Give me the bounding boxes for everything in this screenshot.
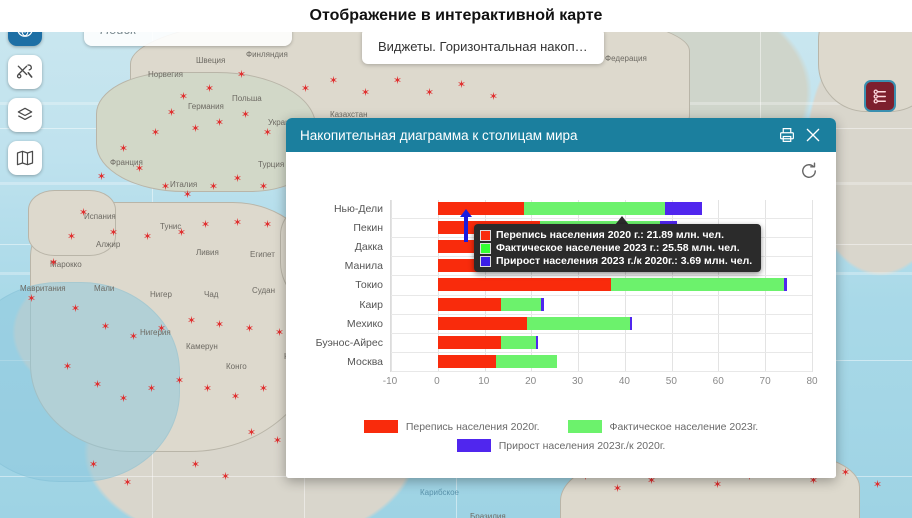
- category-label: Нью-Дели: [334, 203, 383, 215]
- map-marker[interactable]: [66, 232, 77, 243]
- bar-segment[interactable]: [541, 298, 544, 311]
- map-label: Мали: [94, 284, 114, 293]
- legend-row: Перепись населения 2020г.Фактическое нас…: [286, 420, 836, 433]
- basemap-icon: [15, 148, 35, 168]
- map-marker[interactable]: [712, 480, 723, 491]
- map-marker[interactable]: [230, 392, 241, 403]
- map-marker[interactable]: [134, 164, 145, 175]
- map-marker[interactable]: [174, 376, 185, 387]
- map-marker[interactable]: [142, 232, 153, 243]
- map-marker[interactable]: [272, 436, 283, 447]
- category-label: Пекин: [353, 222, 383, 234]
- panel-body: Нью-ДелиПекинДаккаМанилаТокиоКаирМехикоБ…: [286, 152, 836, 478]
- map-marker[interactable]: [202, 384, 213, 395]
- map-marker[interactable]: [328, 76, 339, 87]
- x-tick-label: 30: [572, 376, 583, 387]
- x-tick-label: 0: [434, 376, 440, 387]
- map-marker[interactable]: [840, 468, 851, 479]
- legend-label: Прирост населения 2023г./к 2020г.: [499, 440, 666, 452]
- tooltip-text: Прирост населения 2023 г./к 2020г.: 3.69…: [496, 255, 752, 267]
- bar-segment[interactable]: [784, 278, 787, 291]
- widget-tab-label: Виджеты. Горизонтальная накоп…: [378, 39, 588, 54]
- bar-segment[interactable]: [501, 298, 541, 311]
- tooltip-swatch: [480, 256, 491, 267]
- map-label: Камерун: [186, 342, 218, 351]
- map-marker[interactable]: [232, 218, 243, 229]
- map-marker[interactable]: [118, 144, 129, 155]
- legend-label: Перепись населения 2020г.: [406, 421, 540, 433]
- map-marker[interactable]: [246, 428, 257, 439]
- bar-segment[interactable]: [438, 317, 527, 330]
- tooltip-swatch: [480, 230, 491, 241]
- bar-segment[interactable]: [536, 336, 538, 349]
- print-icon: [778, 126, 796, 144]
- map-marker[interactable]: [176, 228, 187, 239]
- bar-segment[interactable]: [438, 202, 525, 215]
- bar-segment[interactable]: [438, 278, 611, 291]
- legend-swatch: [568, 420, 602, 433]
- panel-header: Накопительная диаграмма к столицам мира: [286, 118, 836, 152]
- map-label: Карибское: [420, 488, 459, 497]
- map-marker[interactable]: [240, 110, 251, 121]
- map-marker[interactable]: [258, 384, 269, 395]
- chart-legend: Перепись населения 2020г.Фактическое нас…: [286, 420, 836, 458]
- map-toolbar[interactable]: [8, 12, 42, 184]
- map-marker[interactable]: [166, 108, 177, 119]
- map-marker[interactable]: [160, 182, 171, 193]
- x-tick-label: 20: [525, 376, 536, 387]
- chart-tooltip: Перепись населения 2020 г.: 21.89 млн. ч…: [474, 224, 761, 272]
- map-marker[interactable]: [872, 480, 883, 491]
- map-label: Алжир: [96, 240, 120, 249]
- widget-breadcrumb-tab[interactable]: Виджеты. Горизонтальная накоп…: [362, 28, 604, 64]
- grid-line: [812, 200, 813, 372]
- refresh-button[interactable]: [798, 160, 820, 182]
- map-marker[interactable]: [262, 128, 273, 139]
- x-tick-label: 70: [760, 376, 771, 387]
- map-marker[interactable]: [150, 128, 161, 139]
- map-marker[interactable]: [156, 324, 167, 335]
- map-marker[interactable]: [214, 118, 225, 129]
- map-label: Ливия: [196, 248, 219, 257]
- x-tick-label: 10: [478, 376, 489, 387]
- bar-segment[interactable]: [527, 317, 630, 330]
- close-icon: [804, 126, 822, 144]
- refresh-icon: [799, 161, 819, 181]
- map-marker[interactable]: [300, 84, 311, 95]
- tooltip-row: Перепись населения 2020 г.: 21.89 млн. ч…: [480, 229, 755, 241]
- tools-button[interactable]: [8, 55, 42, 89]
- category-label: Мехико: [347, 318, 383, 330]
- chart-row[interactable]: Буэнос-Айрес: [391, 334, 812, 353]
- tools-icon: [15, 62, 35, 82]
- map-marker[interactable]: [200, 220, 211, 231]
- bar-segment[interactable]: [611, 278, 784, 291]
- x-tick-label: -10: [383, 376, 397, 387]
- x-tick-label: 80: [806, 376, 817, 387]
- category-label: Дакка: [355, 241, 383, 253]
- category-label: Каир: [359, 299, 383, 311]
- map-marker[interactable]: [88, 460, 99, 471]
- map-marker[interactable]: [190, 124, 201, 135]
- map-label: Судан: [252, 286, 275, 295]
- map-marker[interactable]: [360, 88, 371, 99]
- chart-panel[interactable]: Накопительная диаграмма к столицам мира …: [286, 118, 836, 478]
- map-marker[interactable]: [70, 304, 81, 315]
- bar-segment[interactable]: [630, 317, 633, 330]
- x-tick-label: 60: [713, 376, 724, 387]
- bar-segment[interactable]: [496, 355, 557, 368]
- chart-row[interactable]: Нью-Дели: [391, 200, 812, 219]
- bar-segment[interactable]: [665, 202, 702, 215]
- category-label: Буэнос-Айрес: [316, 337, 383, 349]
- map-label: Финляндия: [246, 50, 288, 59]
- layers-button[interactable]: [8, 98, 42, 132]
- map-marker[interactable]: [62, 362, 73, 373]
- chart-row[interactable]: Каир: [391, 296, 812, 315]
- x-tick-label: 50: [666, 376, 677, 387]
- legend-item[interactable]: Перепись населения 2020г.: [364, 420, 540, 433]
- map-marker[interactable]: [128, 332, 139, 343]
- map-marker[interactable]: [108, 228, 119, 239]
- map-marker[interactable]: [178, 92, 189, 103]
- map-marker[interactable]: [236, 70, 247, 81]
- map-marker[interactable]: [262, 220, 273, 231]
- map-marker[interactable]: [186, 316, 197, 327]
- map-label: Чад: [204, 290, 218, 299]
- category-label: Токио: [355, 279, 383, 291]
- map-marker[interactable]: [208, 182, 219, 193]
- map-label: Польша: [232, 94, 262, 103]
- map-marker[interactable]: [392, 76, 403, 87]
- legend-swatch: [364, 420, 398, 433]
- legend-swatch: [457, 439, 491, 452]
- map-marker[interactable]: [488, 92, 499, 103]
- chart-row[interactable]: Токио: [391, 276, 812, 295]
- map-marker[interactable]: [92, 380, 103, 391]
- map-marker[interactable]: [612, 484, 623, 495]
- print-button[interactable]: [774, 122, 800, 148]
- legend-label: Фактическое население 2023г.: [610, 421, 759, 433]
- map-marker[interactable]: [118, 394, 129, 405]
- map-marker[interactable]: [244, 324, 255, 335]
- hover-pointer-arrow: [464, 216, 468, 242]
- map-label: Турция: [258, 160, 284, 169]
- map-marker[interactable]: [232, 174, 243, 185]
- basemap-button[interactable]: [8, 141, 42, 175]
- category-label: Манила: [345, 260, 383, 272]
- map-marker[interactable]: [100, 322, 111, 333]
- map-marker[interactable]: [146, 384, 157, 395]
- bar-segment[interactable]: [438, 336, 501, 349]
- tooltip-swatch: [480, 243, 491, 254]
- chart-row[interactable]: Москва: [391, 353, 812, 372]
- map-marker[interactable]: [220, 472, 231, 483]
- map-marker[interactable]: [182, 190, 193, 201]
- layers-icon: [15, 105, 35, 125]
- map-marker[interactable]: [26, 294, 37, 305]
- ocean-deep-region: [0, 282, 180, 482]
- map-label: Германия: [188, 102, 224, 111]
- settings-sliders-icon: [871, 87, 890, 106]
- map-marker[interactable]: [122, 478, 133, 489]
- panel-title: Накопительная диаграмма к столицам мира: [300, 128, 774, 143]
- bar-segment[interactable]: [438, 298, 501, 311]
- legend-item[interactable]: Прирост населения 2023г./к 2020г.: [457, 439, 666, 452]
- map-marker[interactable]: [214, 320, 225, 331]
- map-marker[interactable]: [190, 460, 201, 471]
- close-button[interactable]: [800, 122, 826, 148]
- bar-segment[interactable]: [438, 355, 496, 368]
- map-marker[interactable]: [274, 328, 285, 339]
- map-label: Швеция: [196, 56, 225, 65]
- chart-row[interactable]: Мехико: [391, 315, 812, 334]
- x-tick-label: 40: [619, 376, 630, 387]
- tooltip-text: Фактическое население 2023 г.: 25.58 млн…: [496, 242, 740, 254]
- category-label: Москва: [347, 356, 383, 368]
- map-label: Конго: [226, 362, 247, 371]
- tooltip-text: Перепись населения 2020 г.: 21.89 млн. ч…: [496, 229, 724, 241]
- map-marker[interactable]: [96, 172, 107, 183]
- map-label: Италия: [170, 180, 197, 189]
- legend-item[interactable]: Фактическое население 2023г.: [568, 420, 759, 433]
- map-label: Бразилия: [470, 512, 506, 518]
- tooltip-row: Фактическое население 2023 г.: 25.58 млн…: [480, 242, 755, 254]
- map-marker[interactable]: [48, 258, 59, 269]
- map-marker[interactable]: [204, 84, 215, 95]
- bar-segment[interactable]: [524, 202, 664, 215]
- x-axis: -1001020304050607080: [390, 372, 812, 394]
- map-marker[interactable]: [258, 182, 269, 193]
- map-marker[interactable]: [424, 88, 435, 99]
- legend-row: Прирост населения 2023г./к 2020г.: [286, 439, 836, 452]
- bar-segment[interactable]: [501, 336, 536, 349]
- page-title: Отображение в интерактивной карте: [0, 0, 912, 32]
- widget-settings-button[interactable]: [864, 80, 896, 112]
- map-label: Нигер: [150, 290, 172, 299]
- map-marker[interactable]: [78, 208, 89, 219]
- tooltip-row: Прирост населения 2023 г./к 2020г.: 3.69…: [480, 255, 755, 267]
- map-label: Египет: [250, 250, 275, 259]
- map-label: Мавритания: [20, 284, 66, 293]
- map-marker[interactable]: [456, 80, 467, 91]
- map-label: Норвегия: [148, 70, 183, 79]
